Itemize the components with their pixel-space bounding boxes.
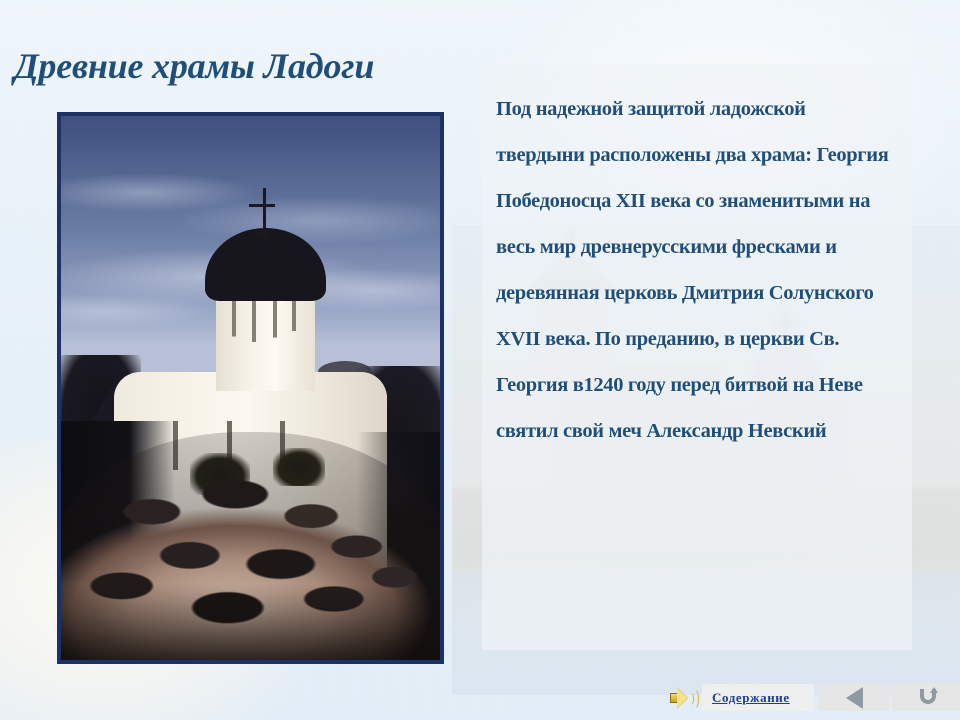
previous-slide-button[interactable] — [818, 684, 890, 711]
speaker-wave-outer — [689, 688, 699, 710]
contents-link-label[interactable]: Содержание — [712, 690, 790, 706]
triangle-left-icon — [846, 687, 863, 709]
presentation-slide: Древние храмы Ладоги — [0, 0, 960, 720]
church-photo-image — [61, 116, 440, 660]
description-text: Под надежной защитой ладожской твердыни … — [496, 86, 894, 454]
contents-button[interactable]: Содержание — [702, 684, 814, 711]
church-photo — [57, 112, 444, 664]
return-arrow-tip — [930, 687, 938, 693]
description-panel: Под надежной защитой ладожской твердыни … — [482, 64, 912, 650]
photo-drum-windows — [226, 298, 306, 352]
speaker-cone-highlight — [677, 688, 687, 708]
photo-cross-horizontal — [249, 204, 275, 207]
slide-navigation-bar: Содержание — [668, 681, 960, 714]
return-button[interactable] — [892, 684, 960, 711]
photo-bottom-shadow — [61, 584, 440, 660]
page-title: Древние храмы Ладоги — [14, 44, 474, 88]
speaker-icon[interactable] — [668, 685, 698, 711]
return-arrow-icon — [918, 688, 938, 708]
